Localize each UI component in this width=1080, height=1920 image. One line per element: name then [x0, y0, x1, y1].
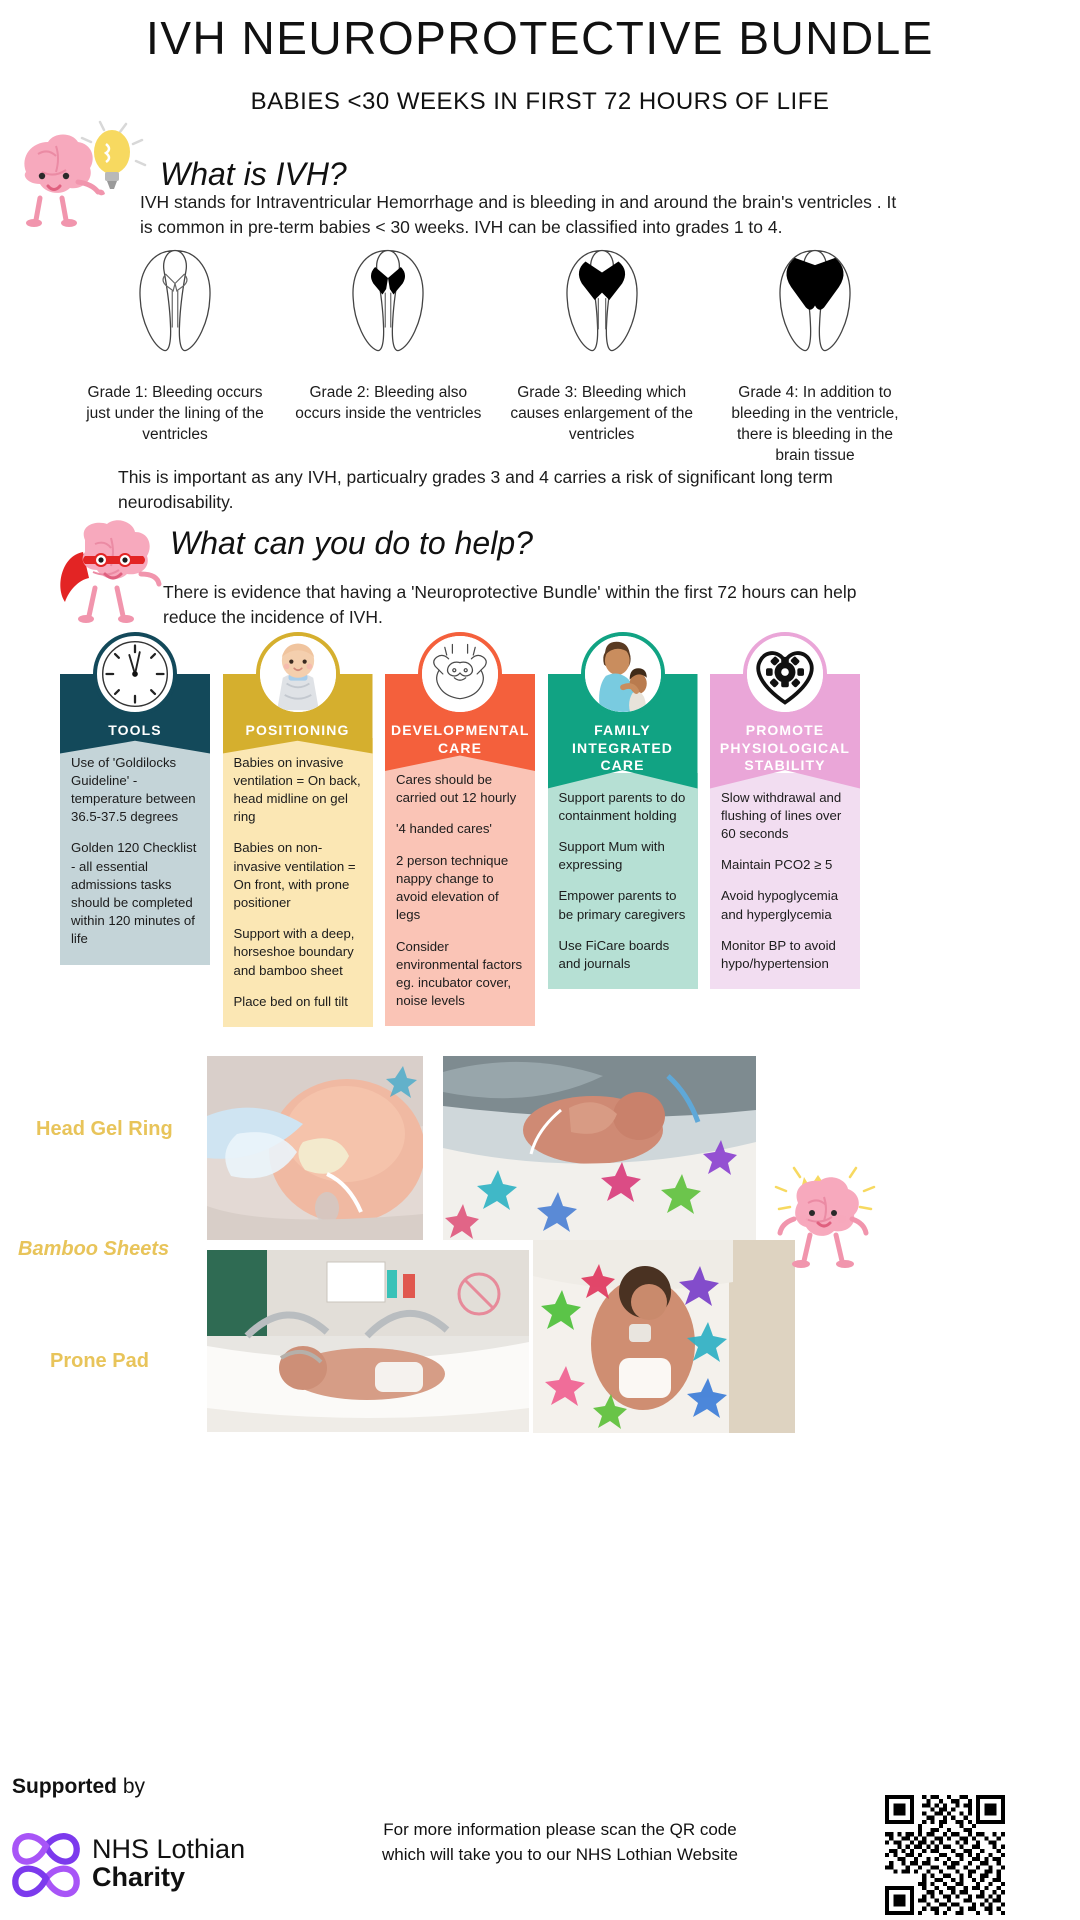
grade-item: Grade 4: In addition to bleeding in the … [720, 245, 910, 467]
bundle-item: Support Mum with expressing [559, 838, 687, 874]
grade-caption: Grade 1: Bleeding occurs just under the … [80, 383, 270, 446]
bundle-item: Babies on non-invasive ventilation = On … [234, 839, 362, 912]
swaddled-baby-icon [256, 632, 340, 716]
qr-instruction-line-1: For more information please scan the QR … [360, 1818, 760, 1843]
ivh-risk-paragraph: This is important as any IVH, particualr… [118, 465, 888, 516]
what-is-ivh-heading: What is IVH? [160, 156, 347, 193]
bundle-item: Avoid hypoglycemia and hyperglycemia [721, 887, 849, 923]
bundle-item: Cares should be carried out 12 hourly [396, 771, 524, 807]
bundle-item: Support parents to do containment holdin… [559, 789, 687, 825]
bundle-column-body: Use of 'Goldilocks Guideline' - temperat… [60, 738, 210, 965]
brain-ventricle-grade-1-icon [80, 245, 270, 355]
brain-ventricle-grade-2-icon [293, 245, 483, 355]
bundle-item: 2 person technique nappy change to avoid… [396, 852, 524, 925]
grade-item: Grade 1: Bleeding occurs just under the … [80, 245, 270, 467]
bundle-item: Empower parents to be primary caregivers [559, 887, 687, 923]
bundle-item: Use FiCare boards and journals [559, 937, 687, 973]
bundle-item: Maintain PCO2 ≥ 5 [721, 856, 849, 874]
bundle-item: Babies on invasive ventilation = On back… [234, 754, 362, 827]
bundle-column-tools: TOOLS Use of 'Goldilocks Guideline' - te… [60, 632, 210, 1027]
qr-instruction-line-2: which will take you to our NHS Lothian W… [360, 1843, 760, 1868]
infinity-loops-icon [10, 1818, 82, 1910]
bundle-column-body: Slow withdrawal and flushing of lines ov… [710, 773, 860, 990]
photo-baby-star-sheet [533, 1240, 795, 1433]
hands-containment-icon [418, 632, 502, 716]
grade-caption: Grade 4: In addition to bleeding in the … [720, 383, 910, 467]
bundle-item: Golden 120 Checklist - all essential adm… [71, 839, 199, 948]
page-subtitle: BABIES <30 WEEKS IN FIRST 72 HOURS OF LI… [0, 88, 1080, 116]
neuroprotective-bundle-columns: TOOLS Use of 'Goldilocks Guideline' - te… [60, 632, 860, 1027]
photo-baby-incubator [207, 1250, 529, 1432]
qr-code[interactable] [885, 1795, 1005, 1915]
photo-baby-gel-ring [207, 1056, 423, 1240]
bundle-column-body: Cares should be carried out 12 hourly '4… [385, 755, 535, 1026]
footer-divider [0, 1760, 1080, 1761]
bundle-column-promote-physiological-stability: PROMOTE PHYSIOLOGICAL STABILITY Slow wit… [710, 632, 860, 1027]
brain-ventricle-grade-3-icon [507, 245, 697, 355]
photo-label-prone-pad: Prone Pad [50, 1350, 149, 1373]
bundle-item: Place bed on full tilt [234, 993, 362, 1011]
heart-gear-icon [743, 632, 827, 716]
bundle-column-positioning: POSITIONING Babies on invasive ventilati… [223, 632, 373, 1027]
crowned-brain-mascot-icon [770, 1155, 880, 1270]
what-is-ivh-paragraph: IVH stands for Intraventricular Hemorrha… [140, 190, 900, 241]
bundle-item: Monitor BP to avoid hypo/hypertension [721, 937, 849, 973]
nhs-logo-line-2: Charity [92, 1864, 245, 1892]
bundle-item: Support with a deep, horseshoe boundary … [234, 925, 362, 980]
supported-by-label: Supported by [12, 1775, 145, 1799]
bundle-item: '4 handed cares' [396, 820, 524, 838]
supported-rest-text: by [117, 1775, 145, 1798]
nhs-lothian-charity-logo: NHS Lothian Charity [10, 1818, 245, 1910]
what-can-you-do-heading: What can you do to help? [170, 525, 533, 562]
grade-item: Grade 2: Bleeding also occurs inside the… [293, 245, 483, 467]
clock-icon [93, 632, 177, 716]
photo-label-bamboo-sheets: Bamboo Sheets [18, 1238, 169, 1261]
page-title: IVH NEUROPROTECTIVE BUNDLE [0, 0, 1080, 62]
bundle-column-body: Babies on invasive ventilation = On back… [223, 738, 373, 1028]
photo-label-head-gel-ring: Head Gel Ring [36, 1118, 173, 1141]
grade-caption: Grade 3: Bleeding which causes enlargeme… [507, 383, 697, 446]
bundle-item: Slow withdrawal and flushing of lines ov… [721, 789, 849, 844]
what-can-you-do-paragraph: There is evidence that having a 'Neuropr… [163, 580, 893, 631]
supported-bold-text: Supported [12, 1775, 117, 1798]
qr-instruction-text: For more information please scan the QR … [360, 1818, 760, 1867]
bundle-column-body: Support parents to do containment holdin… [548, 773, 698, 990]
bundle-item: Use of 'Goldilocks Guideline' - temperat… [71, 754, 199, 827]
bundle-item: Consider environmental factors eg. incub… [396, 938, 524, 1011]
bundle-column-family-integrated-care: FAMILY INTEGRATED CARE Support parents t… [548, 632, 698, 1027]
parent-holding-baby-icon [581, 632, 665, 716]
ivh-grades-row: Grade 1: Bleeding occurs just under the … [80, 245, 910, 467]
grade-caption: Grade 2: Bleeding also occurs inside the… [293, 383, 483, 425]
photo-baby-bamboo-sheet [443, 1056, 756, 1240]
bundle-column-developmental-care: DEVELOPMENTAL CARE Cares should be carri… [385, 632, 535, 1027]
nhs-logo-line-1: NHS Lothian [92, 1836, 245, 1864]
grade-item: Grade 3: Bleeding which causes enlargeme… [507, 245, 697, 467]
brain-ventricle-grade-4-icon [720, 245, 910, 355]
